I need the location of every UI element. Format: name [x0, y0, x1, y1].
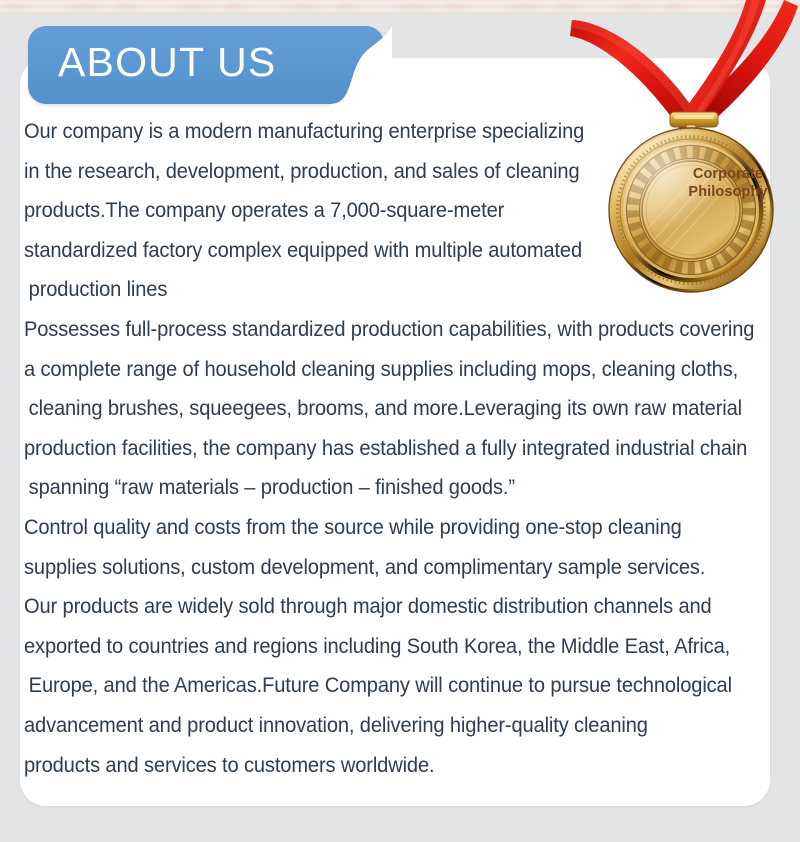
text-line: Control quality and costs from the sourc… — [24, 508, 731, 548]
paragraph-services-and-markets: Control quality and costs from the sourc… — [24, 508, 780, 785]
text-line: Our company is a modern manufacturing en… — [24, 112, 731, 152]
text-line: supplies solutions, custom development, … — [24, 548, 731, 588]
text-line: Europe, and the Americas.Future Company … — [24, 666, 731, 706]
text-line: products.The company operates a 7,000-sq… — [24, 191, 731, 231]
about-us-body: Our company is a modern manufacturing en… — [24, 112, 780, 785]
paragraph-overview: Our company is a modern manufacturing en… — [24, 112, 780, 310]
text-line: production facilities, the company has e… — [24, 429, 731, 469]
paragraph-capabilities: Possesses full-process standardized prod… — [24, 310, 780, 508]
text-line: a complete range of household cleaning s… — [24, 350, 731, 390]
text-line: spanning “raw materials – production – f… — [24, 468, 731, 508]
text-line: advancement and product innovation, deli… — [24, 706, 731, 746]
text-line: Possesses full-process standardized prod… — [24, 310, 731, 350]
text-line: in the research, development, production… — [24, 152, 731, 192]
text-line: Our products are widely sold through maj… — [24, 587, 731, 627]
text-line: standardized factory complex equipped wi… — [24, 231, 731, 271]
text-line: cleaning brushes, squeegees, brooms, and… — [24, 389, 731, 429]
text-line: exported to countries and regions includ… — [24, 627, 731, 667]
text-line: products and services to customers world… — [24, 746, 731, 786]
text-line: production lines — [24, 270, 731, 310]
page-title: ABOUT US — [58, 38, 276, 86]
wood-texture-strip — [0, 0, 800, 14]
tab-curve-decoration — [330, 26, 392, 116]
